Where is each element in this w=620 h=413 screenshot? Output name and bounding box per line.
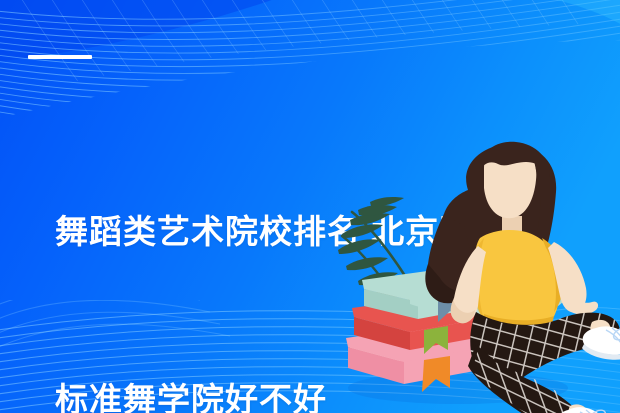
title-accent-bar <box>28 55 92 59</box>
article-cover-banner: 舞蹈类艺术院校排名 北京国际 标准舞学院好不好 <box>0 0 620 413</box>
woman-sitting-on-books-illustration <box>318 138 620 413</box>
